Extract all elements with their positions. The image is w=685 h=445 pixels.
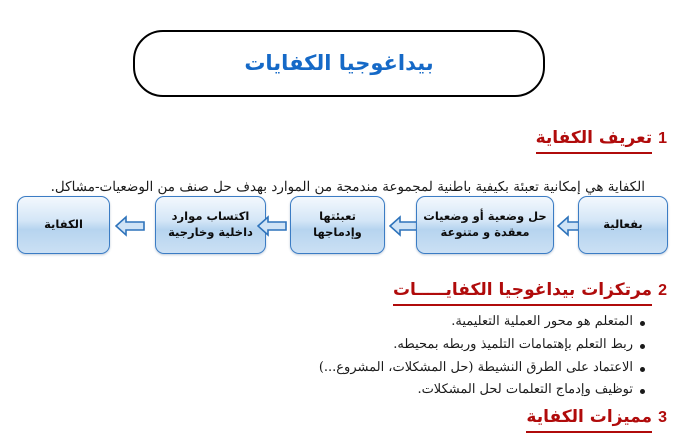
flow-box-competency: الكفاية [17, 196, 110, 254]
list-item-text: توظيف وإدماج التعلمات لحل المشكلات. [417, 379, 633, 402]
list-item-text: الاعتماد على الطرق النشيطة (حل المشكلات،… [319, 357, 633, 380]
list-item: ربط التعلم بإهتمامات التلميذ وربطه بمحيط… [34, 334, 645, 357]
flow-box-label: الكفاية [44, 217, 83, 233]
flow-box-label: تعبئتها وإدماجها [295, 209, 380, 240]
competency-flowchart: الكفاية اكتساب موارد داخلية وخارجية تعبئ… [0, 196, 685, 258]
section-heading-3: 3 مميزات الكفاية [526, 408, 667, 433]
flow-box-label: بفعالية [603, 217, 642, 233]
definition-paragraph: الكفاية هي إمكانية تعبئة بكيفية باطنية ل… [34, 177, 645, 197]
flow-box-effectively: بفعالية [578, 196, 668, 254]
document-title-banner: بيداغوجيا الكفايات [133, 30, 545, 97]
section-title-1: تعريف الكفاية [536, 129, 653, 154]
bullet-dot-icon [640, 344, 645, 349]
flow-arrow-left-icon [389, 215, 419, 237]
flow-box-mobilize-integrate: تعبئتها وإدماجها [290, 196, 385, 254]
flow-box-acquire-resources: اكتساب موارد داخلية وخارجية [155, 196, 266, 254]
section-number-1: 1 [658, 130, 667, 148]
list-item: الاعتماد على الطرق النشيطة (حل المشكلات،… [34, 357, 645, 380]
flow-box-label: اكتساب موارد داخلية وخارجية [160, 209, 261, 240]
flow-arrow-left-icon [257, 215, 287, 237]
flow-arrow-left-icon [115, 215, 145, 237]
principles-bullet-list: المتعلم هو محور العملية التعليمية. ربط ا… [34, 311, 645, 402]
section-title-2: مرتكزات بيداغوجيا الكفايـــــات [393, 281, 652, 306]
flow-box-solve-situations: حل وضعية أو وضعيات معقدة و متنوعة [416, 196, 554, 254]
flow-box-label: حل وضعية أو وضعيات معقدة و متنوعة [421, 209, 549, 240]
list-item: المتعلم هو محور العملية التعليمية. [34, 311, 645, 334]
section-title-3: مميزات الكفاية [526, 408, 652, 433]
list-item-text: ربط التعلم بإهتمامات التلميذ وربطه بمحيط… [393, 334, 633, 357]
bullet-dot-icon [640, 367, 645, 372]
list-item: توظيف وإدماج التعلمات لحل المشكلات. [34, 379, 645, 402]
section-number-3: 3 [658, 409, 667, 427]
section-heading-1: 1 تعريف الكفاية [536, 129, 667, 154]
section-number-2: 2 [658, 282, 667, 300]
bullet-dot-icon [640, 389, 645, 394]
page-title: بيداغوجيا الكفايات [244, 53, 433, 74]
list-item-text: المتعلم هو محور العملية التعليمية. [451, 311, 633, 334]
section-heading-2: 2 مرتكزات بيداغوجيا الكفايـــــات [393, 281, 667, 306]
bullet-dot-icon [640, 321, 645, 326]
